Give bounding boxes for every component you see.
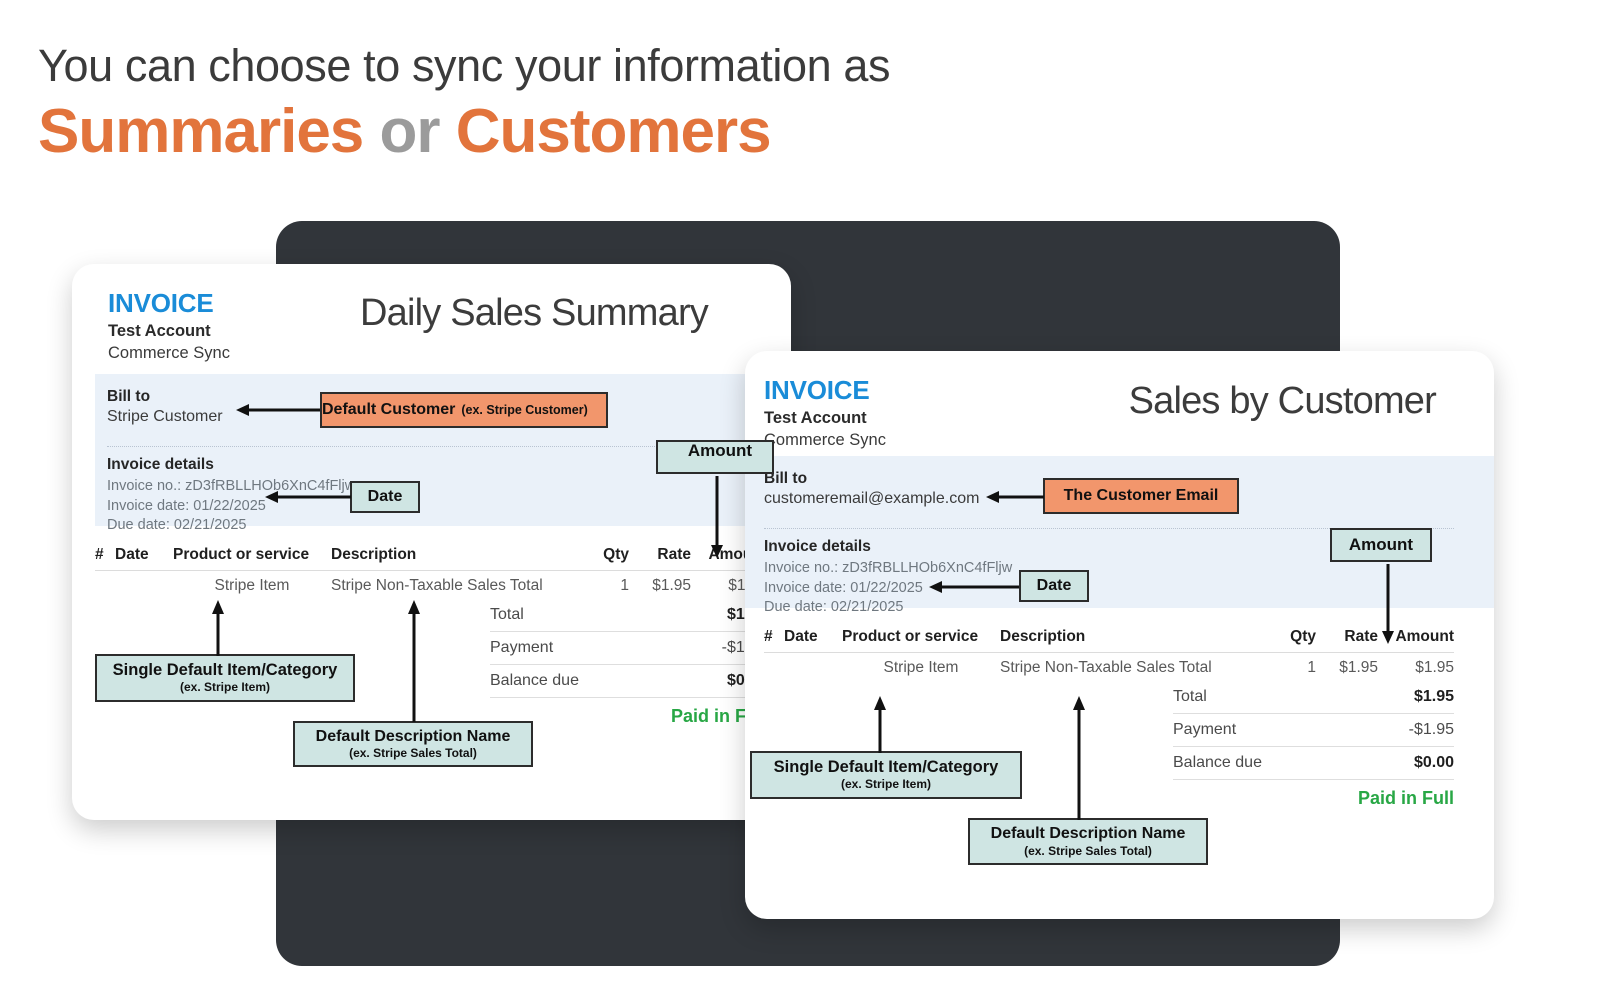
- document-title-left: Daily Sales Summary: [360, 292, 708, 335]
- headline-line-2: Summaries or Customers: [38, 99, 1038, 164]
- callout-customer-email-main: The Customer Email: [1064, 487, 1219, 505]
- account-name: Test Account: [764, 409, 886, 428]
- totals-row-total: Total $1.95: [1173, 681, 1454, 713]
- table-header-row: # Date Product or service Description Qt…: [764, 628, 1454, 652]
- callout-date-right: Date: [1019, 570, 1089, 602]
- due-date: Due date: 02/21/2025: [107, 516, 355, 536]
- arrow-date-left: [265, 488, 353, 506]
- cell-product: Stripe Item: [173, 577, 331, 595]
- callout-date-right-main: Date: [1037, 577, 1072, 595]
- line-items-table-left: # Date Product or service Description Qt…: [95, 546, 767, 602]
- totals-value: -$1.95: [1409, 721, 1454, 739]
- col-header-number: #: [764, 628, 784, 646]
- callout-amount-left: Amount: [656, 440, 774, 474]
- arrow-amount-right: [1379, 564, 1397, 646]
- totals-row-total: Total $1.95: [490, 599, 767, 631]
- cell-rate: $1.95: [1316, 659, 1378, 677]
- arrow-amount-left: [708, 476, 726, 560]
- callout-description-left-main: Default Description Name: [316, 728, 511, 746]
- invoice-logo-text: INVOICE: [108, 290, 230, 316]
- bill-to-label: Bill to: [107, 388, 223, 406]
- col-header-rate: Rate: [629, 546, 691, 564]
- callout-default-customer-sub: (ex. Stripe Customer): [461, 404, 587, 418]
- due-date: Due date: 02/21/2025: [764, 598, 1012, 618]
- totals-row-payment: Payment -$1.95: [490, 631, 767, 664]
- company-name: Commerce Sync: [108, 344, 230, 363]
- bill-to-value: Stripe Customer: [107, 408, 223, 426]
- callout-date-left: Date: [350, 481, 420, 513]
- cell-qty: 1: [1272, 659, 1316, 677]
- document-title-right: Sales by Customer: [1129, 380, 1436, 423]
- callout-amount-right-main: Amount: [1349, 536, 1413, 555]
- callout-description-right-main: Default Description Name: [991, 825, 1186, 843]
- table-row: Stripe Item Stripe Non-Taxable Sales Tot…: [95, 570, 767, 602]
- arrow-item-category-right: [871, 696, 889, 753]
- status-badge-paid-in-full: Paid in Full: [1173, 779, 1454, 809]
- table-row: Stripe Item Stripe Non-Taxable Sales Tot…: [764, 652, 1454, 684]
- invoice-details-label: Invoice details: [107, 456, 355, 474]
- headline-word-or: or: [380, 97, 440, 166]
- bill-to-label: Bill to: [764, 470, 979, 488]
- cell-description: Stripe Non-Taxable Sales Total: [331, 577, 585, 595]
- col-header-rate: Rate: [1316, 628, 1378, 646]
- callout-item-category-right-main: Single Default Item/Category: [774, 758, 999, 776]
- col-header-qty: Qty: [585, 546, 629, 564]
- headline-word-summaries: Summaries: [38, 97, 363, 166]
- totals-row-balance-due: Balance due $0.00: [1173, 746, 1454, 779]
- totals-row-payment: Payment -$1.95: [1173, 713, 1454, 746]
- totals-label: Payment: [1173, 721, 1236, 739]
- totals-label: Balance due: [490, 672, 579, 690]
- callout-default-customer: Default Customer (ex. Stripe Customer): [320, 392, 608, 428]
- headline-word-customers: Customers: [456, 97, 771, 166]
- cell-rate: $1.95: [629, 577, 691, 595]
- table-header-row: # Date Product or service Description Qt…: [95, 546, 767, 570]
- col-header-description: Description: [331, 546, 585, 564]
- col-header-number: #: [95, 546, 115, 564]
- totals-value: $0.00: [1414, 754, 1454, 772]
- totals-label: Payment: [490, 639, 553, 657]
- callout-item-category-right: Single Default Item/Category (ex. Stripe…: [750, 751, 1022, 799]
- col-header-description: Description: [1000, 628, 1272, 646]
- bill-to-value: customeremail@example.com: [764, 490, 979, 508]
- callout-item-category-left-main: Single Default Item/Category: [113, 661, 338, 679]
- arrow-description-right: [1070, 696, 1088, 820]
- page-title: You can choose to sync your information …: [38, 42, 1038, 164]
- totals-row-balance-due: Balance due $0.00: [490, 664, 767, 697]
- totals-label: Total: [490, 606, 524, 624]
- account-name: Test Account: [108, 322, 230, 341]
- arrow-customer-email: [986, 488, 1046, 506]
- callout-item-category-left-sub: (ex. Stripe Item): [180, 681, 270, 694]
- invoice-logo-text: INVOICE: [764, 377, 886, 403]
- arrow-description-left: [405, 600, 423, 722]
- headline-line-1: You can choose to sync your information …: [38, 42, 1038, 89]
- arrow-item-category-left: [209, 600, 227, 656]
- cell-qty: 1: [585, 577, 629, 595]
- totals-block-left: Total $1.95 Payment -$1.95 Balance due $…: [490, 599, 767, 727]
- line-items-table-right: # Date Product or service Description Qt…: [764, 628, 1454, 684]
- col-header-product: Product or service: [842, 628, 1000, 646]
- invoice-number: Invoice no.: zD3fRBLLHOb6XnC4fFljw: [764, 559, 1012, 579]
- totals-block-right: Total $1.95 Payment -$1.95 Balance due $…: [1173, 681, 1454, 809]
- totals-label: Total: [1173, 688, 1207, 706]
- cell-amount: $1.95: [1378, 659, 1454, 677]
- callout-amount-right: Amount: [1330, 528, 1432, 562]
- callout-description-right-sub: (ex. Stripe Sales Total): [1024, 845, 1152, 858]
- invoice-brand-block-right: INVOICE Test Account Commerce Sync: [764, 377, 886, 450]
- arrow-date-right: [929, 578, 1021, 596]
- cell-product: Stripe Item: [842, 659, 1000, 677]
- col-header-date: Date: [115, 546, 173, 564]
- invoice-brand-block-left: INVOICE Test Account Commerce Sync: [108, 290, 230, 363]
- col-header-date: Date: [784, 628, 842, 646]
- col-header-qty: Qty: [1272, 628, 1316, 646]
- totals-label: Balance due: [1173, 754, 1262, 772]
- totals-value: $1.95: [1414, 688, 1454, 706]
- company-name: Commerce Sync: [764, 431, 886, 450]
- callout-date-left-main: Date: [368, 488, 403, 506]
- callout-description-right: Default Description Name (ex. Stripe Sal…: [968, 818, 1208, 865]
- callout-default-customer-main: Default Customer: [322, 401, 455, 419]
- col-header-product: Product or service: [173, 546, 331, 564]
- invoice-details-label: Invoice details: [764, 538, 1012, 556]
- callout-description-left: Default Description Name (ex. Stripe Sal…: [293, 721, 533, 767]
- callout-customer-email: The Customer Email: [1043, 478, 1239, 514]
- callout-amount-left-main: Amount: [688, 442, 752, 461]
- callout-description-left-sub: (ex. Stripe Sales Total): [349, 747, 477, 760]
- arrow-default-customer: [236, 401, 322, 419]
- callout-item-category-left: Single Default Item/Category (ex. Stripe…: [95, 654, 355, 702]
- cell-description: Stripe Non-Taxable Sales Total: [1000, 659, 1272, 677]
- slide-canvas: You can choose to sync your information …: [0, 0, 1600, 1000]
- callout-item-category-right-sub: (ex. Stripe Item): [841, 778, 931, 791]
